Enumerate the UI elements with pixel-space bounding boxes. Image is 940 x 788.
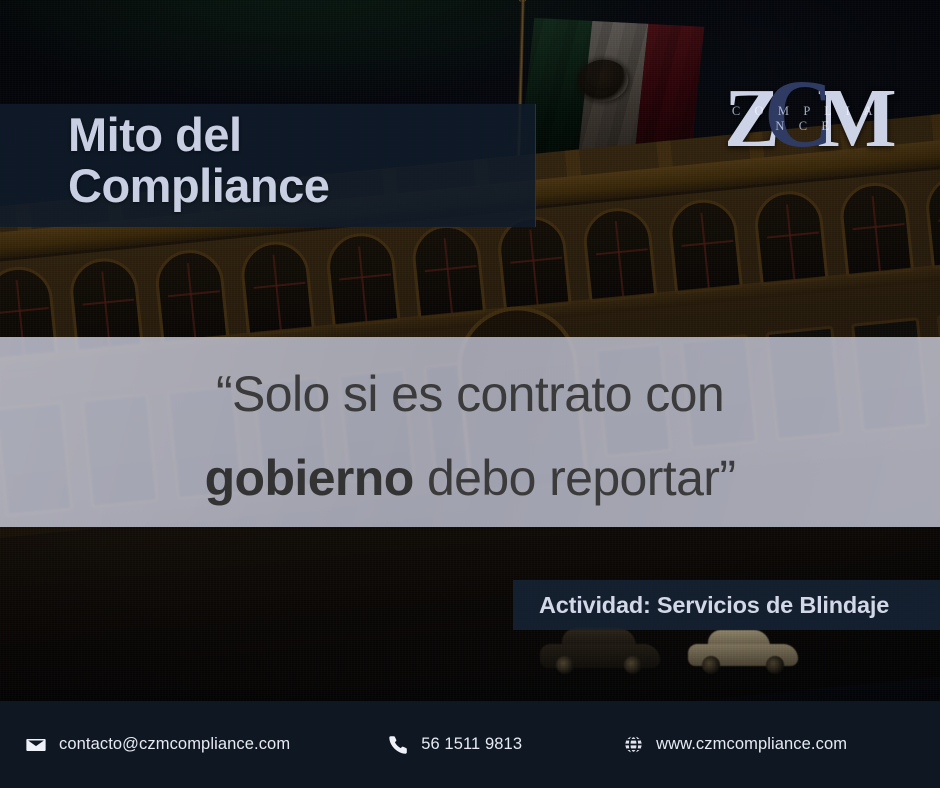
contact-email[interactable]: contacto@czmcompliance.com [24, 733, 290, 757]
arch-window [581, 205, 658, 303]
page-title: Mito del Compliance [68, 109, 538, 211]
quote-line-2-text: debo reportar [414, 450, 720, 506]
quote-bold-word: gobierno [205, 450, 414, 506]
close-quote-mark: ” [719, 450, 735, 506]
arch-window [495, 213, 572, 311]
contact-website-text: www.czmcompliance.com [656, 735, 847, 754]
poster-canvas: Mito del Compliance ZCM C O M P L I A N … [0, 0, 940, 788]
arch-window [324, 230, 401, 328]
car-wheel [702, 656, 720, 674]
parked-car-suv [540, 628, 660, 672]
car-wheel [766, 656, 784, 674]
arch-window [837, 180, 914, 278]
activity-banner: Actividad: Servicios de Blindaje [513, 580, 940, 630]
contact-phone[interactable]: 56 1511 9813 [386, 733, 522, 757]
arch-window [752, 188, 829, 286]
envelope-icon [24, 733, 48, 757]
arch-window [923, 171, 940, 269]
contact-phone-text: 56 1511 9813 [421, 735, 522, 754]
arch-window [238, 239, 315, 337]
car-wheel [556, 656, 574, 674]
quote-line-2: gobierno debo reportar” [0, 436, 940, 520]
open-quote-mark: “ [216, 366, 232, 422]
globe-icon [621, 733, 645, 757]
quote-line-1: “Solo si es contrato con [0, 352, 940, 436]
quote-text: “Solo si es contrato con gobierno debo r… [0, 352, 940, 520]
contact-website[interactable]: www.czmcompliance.com [621, 733, 847, 757]
footer-contact-bar: contacto@czmcompliance.com 56 1511 9813 [0, 701, 940, 788]
activity-label: Actividad: Servicios de Blindaje [513, 592, 889, 619]
parked-car-sedan [688, 630, 798, 670]
car-wheel [624, 656, 642, 674]
logo-wordmark: C O M P L I A N C E [724, 104, 886, 134]
phone-icon [386, 733, 410, 757]
arch-window [666, 197, 743, 295]
contact-email-text: contacto@czmcompliance.com [59, 735, 290, 754]
logo: ZCM C O M P L I A N C E [724, 60, 886, 168]
arch-window [410, 222, 487, 320]
quote-line-1-text: Solo si es contrato con [232, 366, 724, 422]
arch-window [153, 247, 230, 345]
